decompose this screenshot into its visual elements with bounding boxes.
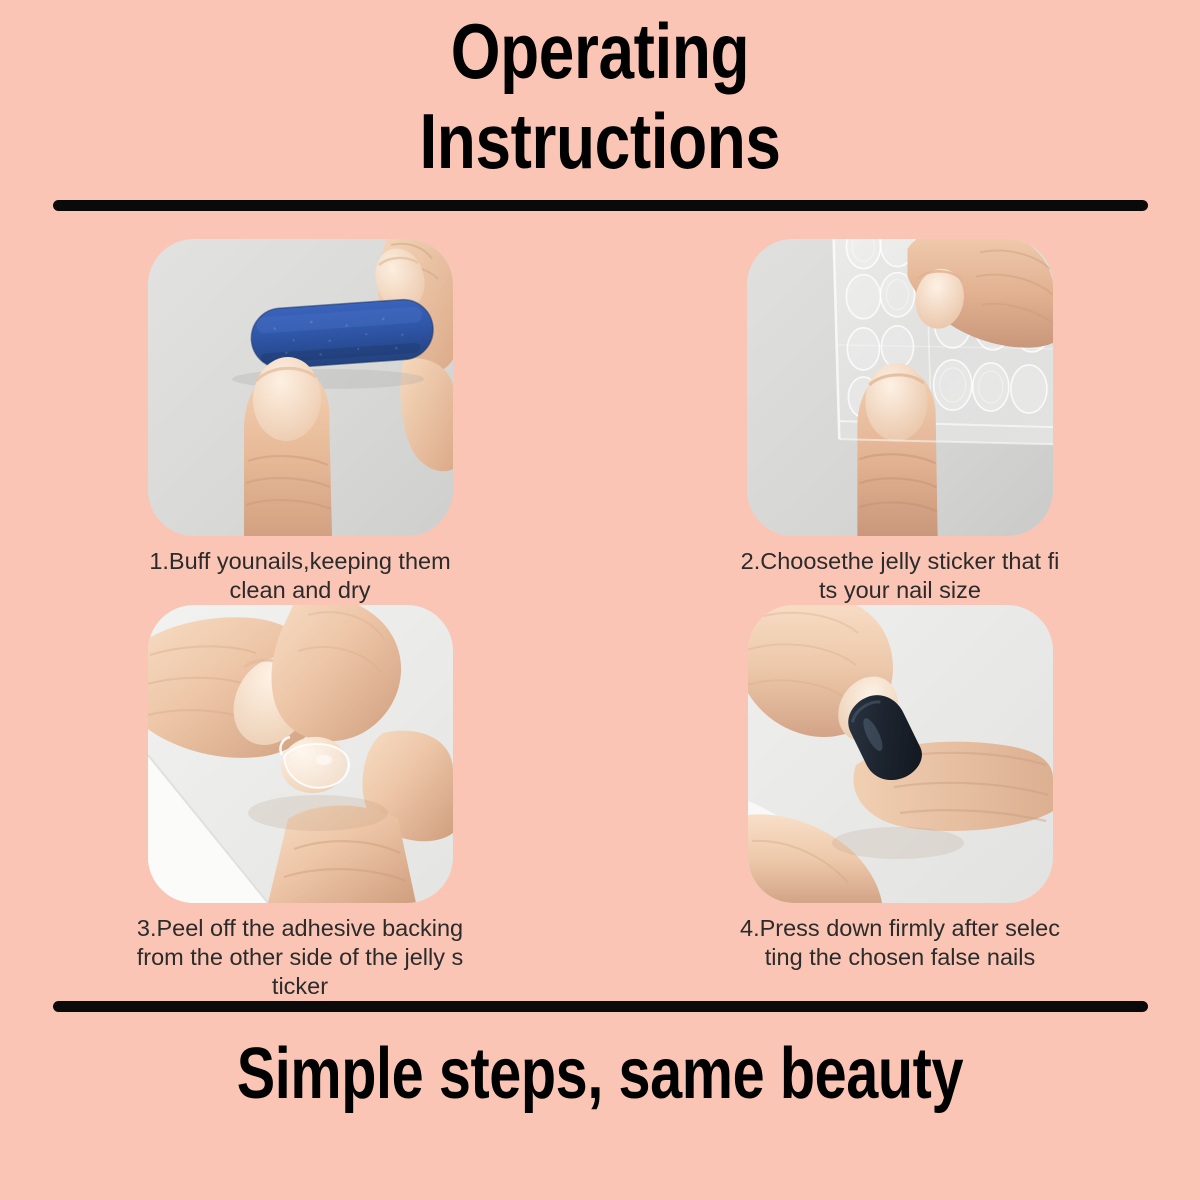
step-caption-4: 4.Press down firmly after selec ting the… <box>735 914 1065 972</box>
step-item-2: 2.Choosethe jelly sticker that fi ts you… <box>600 239 1200 605</box>
step-item-3: 3.Peel off the adhesive backing from the… <box>0 605 600 1001</box>
press-false-nail-photo <box>748 605 1053 903</box>
step-caption-2: 2.Choosethe jelly sticker that fi ts you… <box>735 547 1065 605</box>
peel-adhesive-backing-photo <box>148 605 453 903</box>
steps-grid: 1.Buff younails,keeping them clean and d… <box>0 211 1200 1001</box>
step-caption-1: 1.Buff younails,keeping them clean and d… <box>135 547 465 605</box>
title-line-2: Instructions <box>108 96 1092 186</box>
bottom-divider <box>53 1001 1148 1012</box>
title-line-1: Operating <box>108 6 1092 96</box>
footer-tagline: Simple steps, same beauty <box>0 1012 1200 1114</box>
tagline-text: Simple steps, same beauty <box>237 1034 963 1114</box>
step-item-1: 1.Buff younails,keeping them clean and d… <box>0 239 600 605</box>
nail-file-buffing-photo <box>148 239 453 536</box>
instructions-poster: Operating Instructions <box>0 0 1200 1200</box>
step-item-4: 4.Press down firmly after selec ting the… <box>600 605 1200 1001</box>
top-divider <box>53 200 1148 211</box>
jelly-sticker-sheet-photo <box>747 239 1053 536</box>
step-caption-3: 3.Peel off the adhesive backing from the… <box>135 914 465 1001</box>
page-title: Operating Instructions <box>0 0 1200 186</box>
